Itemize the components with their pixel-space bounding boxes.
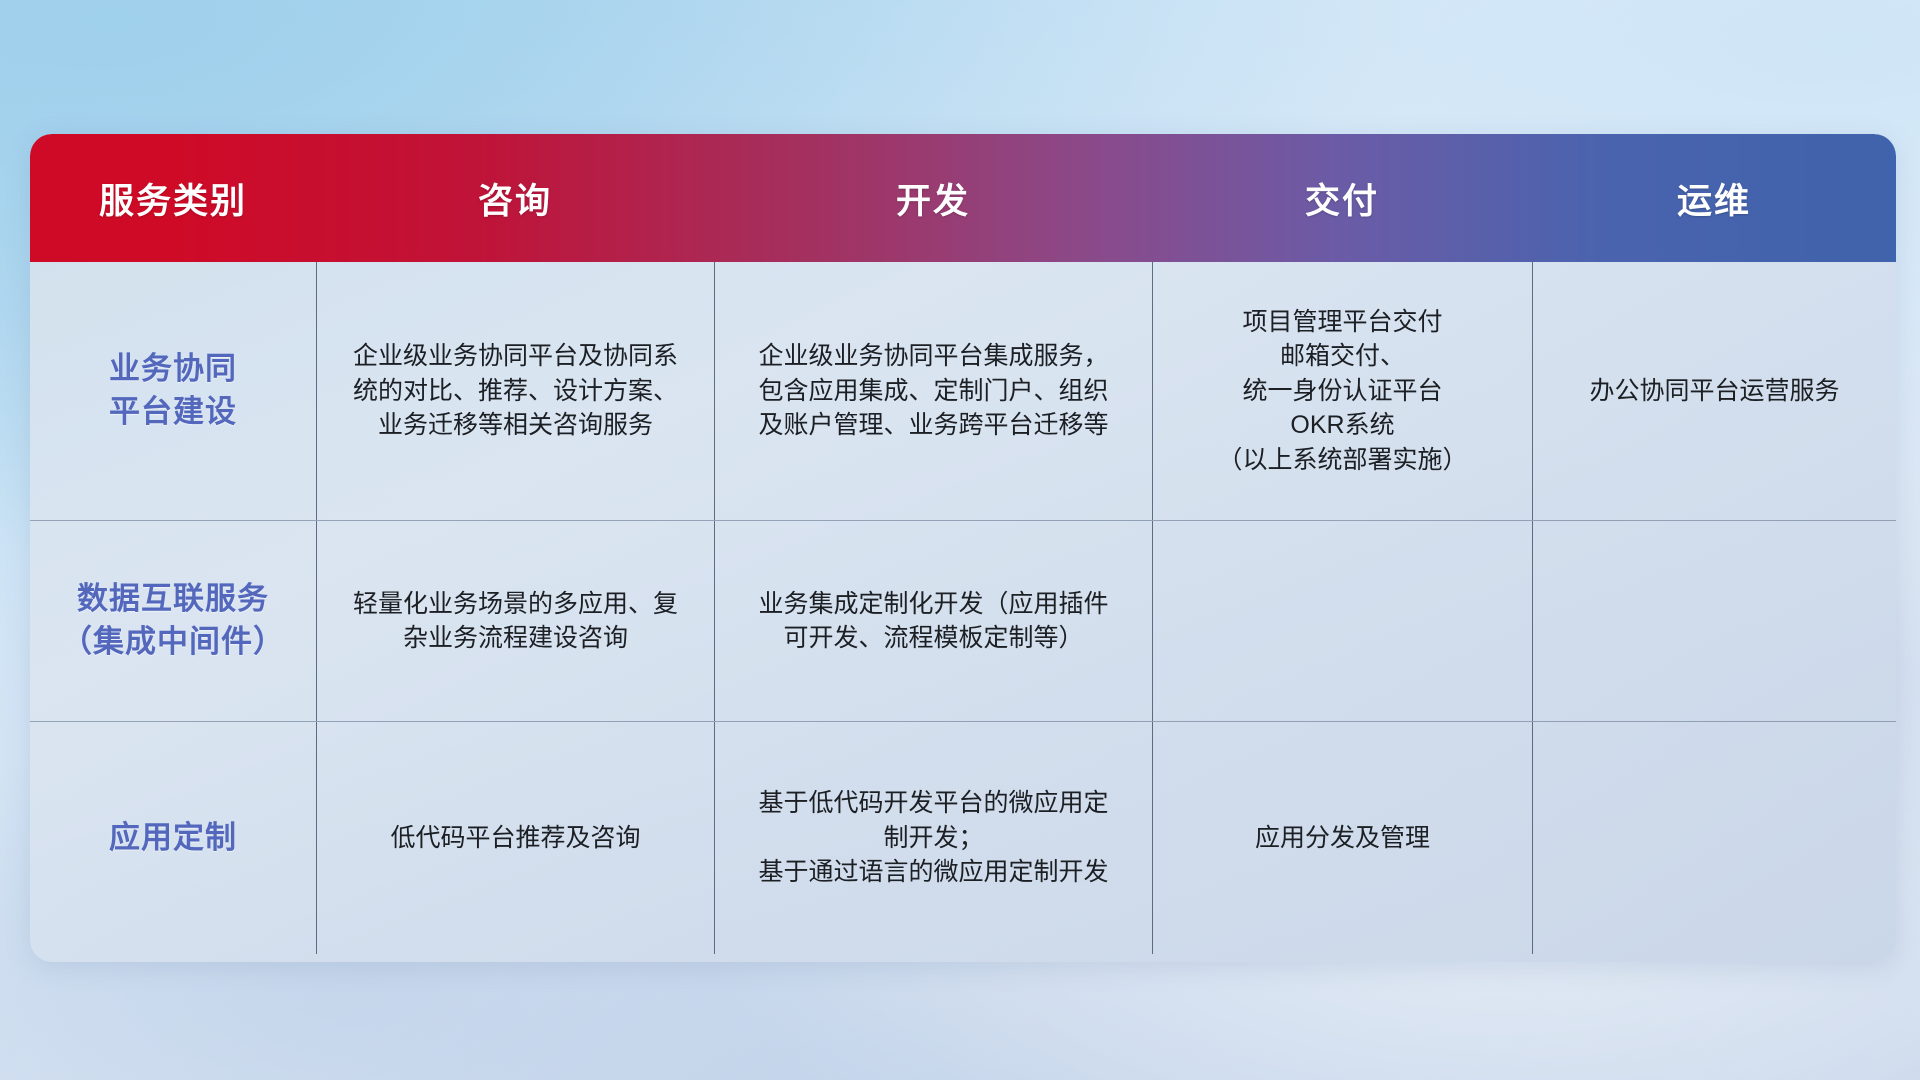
table-row: 应用定制 低代码平台推荐及咨询 基于低代码开发平台的微应用定 制开发； 基于通过… — [30, 721, 1896, 954]
cell-operations — [1532, 722, 1896, 954]
cell-consulting: 企业级业务协同平台及协同系 统的对比、推荐、设计方案、 业务迁移等相关咨询服务 — [316, 262, 714, 520]
cell-development: 基于低代码开发平台的微应用定 制开发； 基于通过语言的微应用定制开发 — [714, 722, 1152, 954]
column-header-category: 服务类别 — [30, 134, 316, 262]
cell-delivery: 应用分发及管理 — [1152, 722, 1532, 954]
column-header-development: 开发 — [714, 134, 1152, 262]
row-category-label: 数据互联服务 （集成中间件） — [30, 521, 316, 721]
cell-development: 企业级业务协同平台集成服务， 包含应用集成、定制门户、组织 及账户管理、业务跨平… — [714, 262, 1152, 520]
cell-development: 业务集成定制化开发（应用插件 可开发、流程模板定制等） — [714, 521, 1152, 721]
table-body: 业务协同 平台建设 企业级业务协同平台及协同系 统的对比、推荐、设计方案、 业务… — [30, 262, 1896, 962]
row-category-label: 业务协同 平台建设 — [30, 262, 316, 520]
cell-operations: 办公协同平台运营服务 — [1532, 262, 1896, 520]
cell-consulting: 低代码平台推荐及咨询 — [316, 722, 714, 954]
column-header-operations: 运维 — [1532, 134, 1896, 262]
table-header-row: 服务类别 咨询 开发 交付 运维 — [30, 134, 1896, 262]
cell-delivery: 项目管理平台交付 邮箱交付、 统一身份认证平台 OKR系统 （以上系统部署实施） — [1152, 262, 1532, 520]
table-row: 数据互联服务 （集成中间件） 轻量化业务场景的多应用、复 杂业务流程建设咨询 业… — [30, 520, 1896, 721]
cell-consulting: 轻量化业务场景的多应用、复 杂业务流程建设咨询 — [316, 521, 714, 721]
row-category-label: 应用定制 — [30, 722, 316, 954]
table-row: 业务协同 平台建设 企业级业务协同平台及协同系 统的对比、推荐、设计方案、 业务… — [30, 262, 1896, 520]
column-header-delivery: 交付 — [1152, 134, 1532, 262]
cell-operations — [1532, 521, 1896, 721]
cell-delivery — [1152, 521, 1532, 721]
column-header-consulting: 咨询 — [316, 134, 714, 262]
service-matrix-table: 服务类别 咨询 开发 交付 运维 业务协同 平台建设 企业级业务协同平台及协同系… — [30, 134, 1896, 962]
